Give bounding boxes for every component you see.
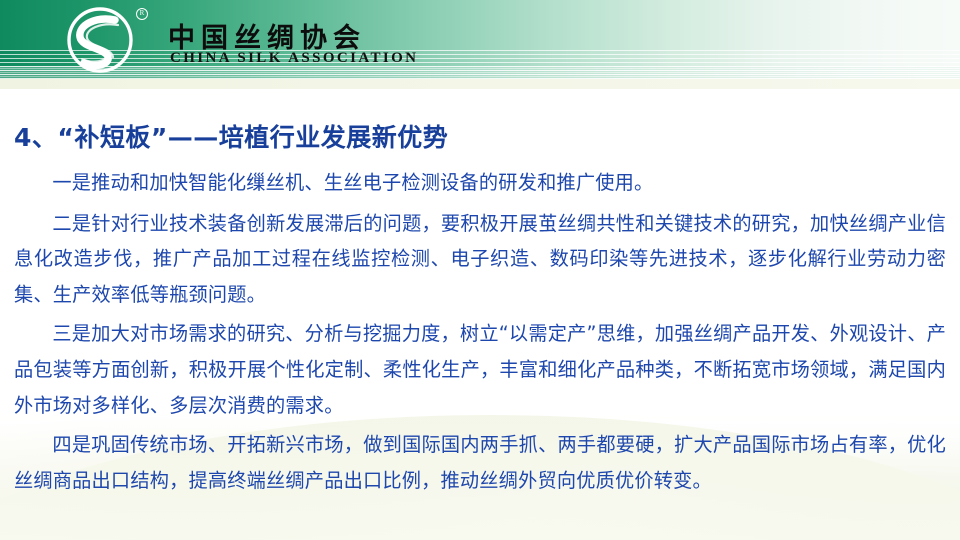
registered-trademark-icon: R xyxy=(136,8,148,20)
organization-name-en: CHINA SILK ASSOCIATION xyxy=(170,50,418,67)
csa-silk-s-logo-icon: R xyxy=(52,6,152,74)
header-banner: R 中国丝绸协会 CHINA SILK ASSOCIATION xyxy=(0,0,960,79)
body-paragraph-4: 四是巩固传统市场、开拓新兴市场，做到国际国内两手抓、两手都要硬，扩大产品国际市场… xyxy=(14,427,946,498)
body-paragraph-2: 二是针对行业技术装备创新发展滞后的问题，要积极开展茧丝绸共性和关键技术的研究，加… xyxy=(14,206,946,313)
body-paragraph-3: 三是加大对市场需求的研究、分析与挖掘力度，树立“以需定产”思维，加强丝绸产品开发… xyxy=(14,316,946,423)
slide-title: 4、“补短板”——培植行业发展新优势 xyxy=(14,118,448,154)
body-paragraph-1: 一是推动和加快智能化缫丝机、生丝电子检测设备的研发和推广使用。 xyxy=(14,165,946,201)
presentation-slide: R 中国丝绸协会 CHINA SILK ASSOCIATION 4、“补短板”—… xyxy=(0,0,960,540)
slide-body: 一是推动和加快智能化缫丝机、生丝电子检测设备的研发和推广使用。 二是针对行业技术… xyxy=(14,165,946,499)
banner-baseline xyxy=(0,79,960,89)
